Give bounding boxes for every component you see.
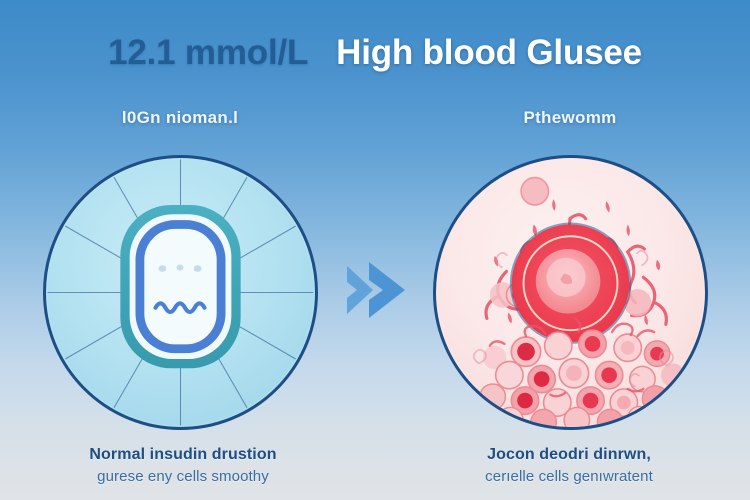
glucose-value: 12.1 mmol/L xyxy=(108,33,307,72)
normal-cell-diagram xyxy=(43,155,318,430)
title-text: High blood Glusee xyxy=(336,33,642,72)
page-title: 12.1 mmol/L High blood Glusee xyxy=(0,33,750,73)
nucleus-core-fill xyxy=(145,229,216,343)
transition-arrow xyxy=(343,252,415,328)
high-glucose-cell-diagram xyxy=(433,155,708,430)
left-caption: Normal insudin drustion gurese eny cells… xyxy=(18,446,348,485)
right-caption-title: Jocon deodri dinrwn, xyxy=(404,446,734,464)
left-caption-title: Normal insudin drustion xyxy=(18,446,348,464)
right-panel-sublabel: Pthewomm xyxy=(420,108,720,128)
left-panel-sublabel: l0Gn nioman.l xyxy=(30,108,330,128)
double-chevron-right-icon xyxy=(347,262,405,318)
right-caption-sub: cerıelle cells genıwratent xyxy=(404,468,734,485)
right-caption: Jocon deodri dinrwn, cerıelle cells genı… xyxy=(404,446,734,485)
infographic-canvas: 12.1 mmol/L High blood Glusee l0Gn nioma… xyxy=(0,0,750,500)
left-caption-sub: gurese eny cells smoothy xyxy=(18,468,348,485)
